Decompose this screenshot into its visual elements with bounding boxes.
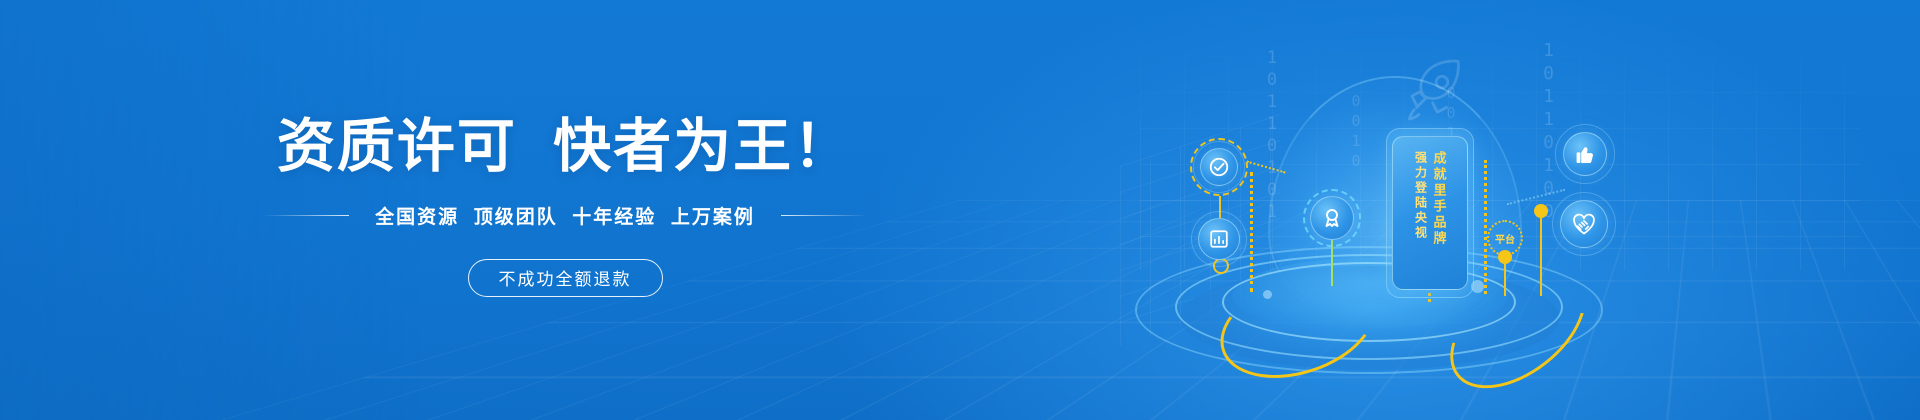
subtitle: 全国资源 顶级团队 十年经验 上万案例 bbox=[375, 202, 755, 229]
thumbs-up-icon bbox=[1563, 132, 1607, 176]
hero-content: 资质许可 快者为王！ 全国资源 顶级团队 十年经验 上万案例 不成功全额退款 bbox=[0, 0, 1130, 420]
pin-stem bbox=[1540, 212, 1542, 296]
bar-chart-icon bbox=[1198, 218, 1240, 260]
check-circle-icon bbox=[1200, 148, 1238, 186]
tablet-text-secondary: 强力登陆央视 bbox=[1415, 151, 1427, 241]
tablet-device: 强力登陆央视 成就里手品牌 bbox=[1392, 136, 1468, 290]
bubble-dot bbox=[1263, 290, 1272, 299]
subtitle-row: 全国资源 顶级团队 十年经验 上万案例 bbox=[263, 202, 867, 229]
divider-line-right bbox=[781, 215, 867, 216]
divider-line-left bbox=[263, 215, 349, 216]
binary-digits: 10110101 bbox=[1262, 48, 1282, 224]
rocket-icon bbox=[1398, 52, 1472, 131]
handshake-heart-icon bbox=[1560, 200, 1608, 248]
page-title: 资质许可 快者为王！ bbox=[277, 118, 853, 176]
pin-marker bbox=[1534, 204, 1548, 218]
dotted-stem bbox=[1484, 160, 1487, 294]
tablet-text-primary: 成就里手品牌 bbox=[1433, 151, 1446, 247]
platform-badge: 平台 bbox=[1487, 220, 1523, 256]
award-medal-icon bbox=[1310, 196, 1354, 240]
platform-badge-label: 平台 bbox=[1495, 231, 1515, 246]
hero-banner: 10110101 0010 0011 10110100 强力登陆央视 成就里手品… bbox=[0, 0, 1920, 420]
refund-guarantee-button[interactable]: 不成功全额退款 bbox=[468, 259, 663, 297]
dotted-stem bbox=[1250, 172, 1253, 292]
binary-digits: 0010 bbox=[1347, 92, 1365, 172]
